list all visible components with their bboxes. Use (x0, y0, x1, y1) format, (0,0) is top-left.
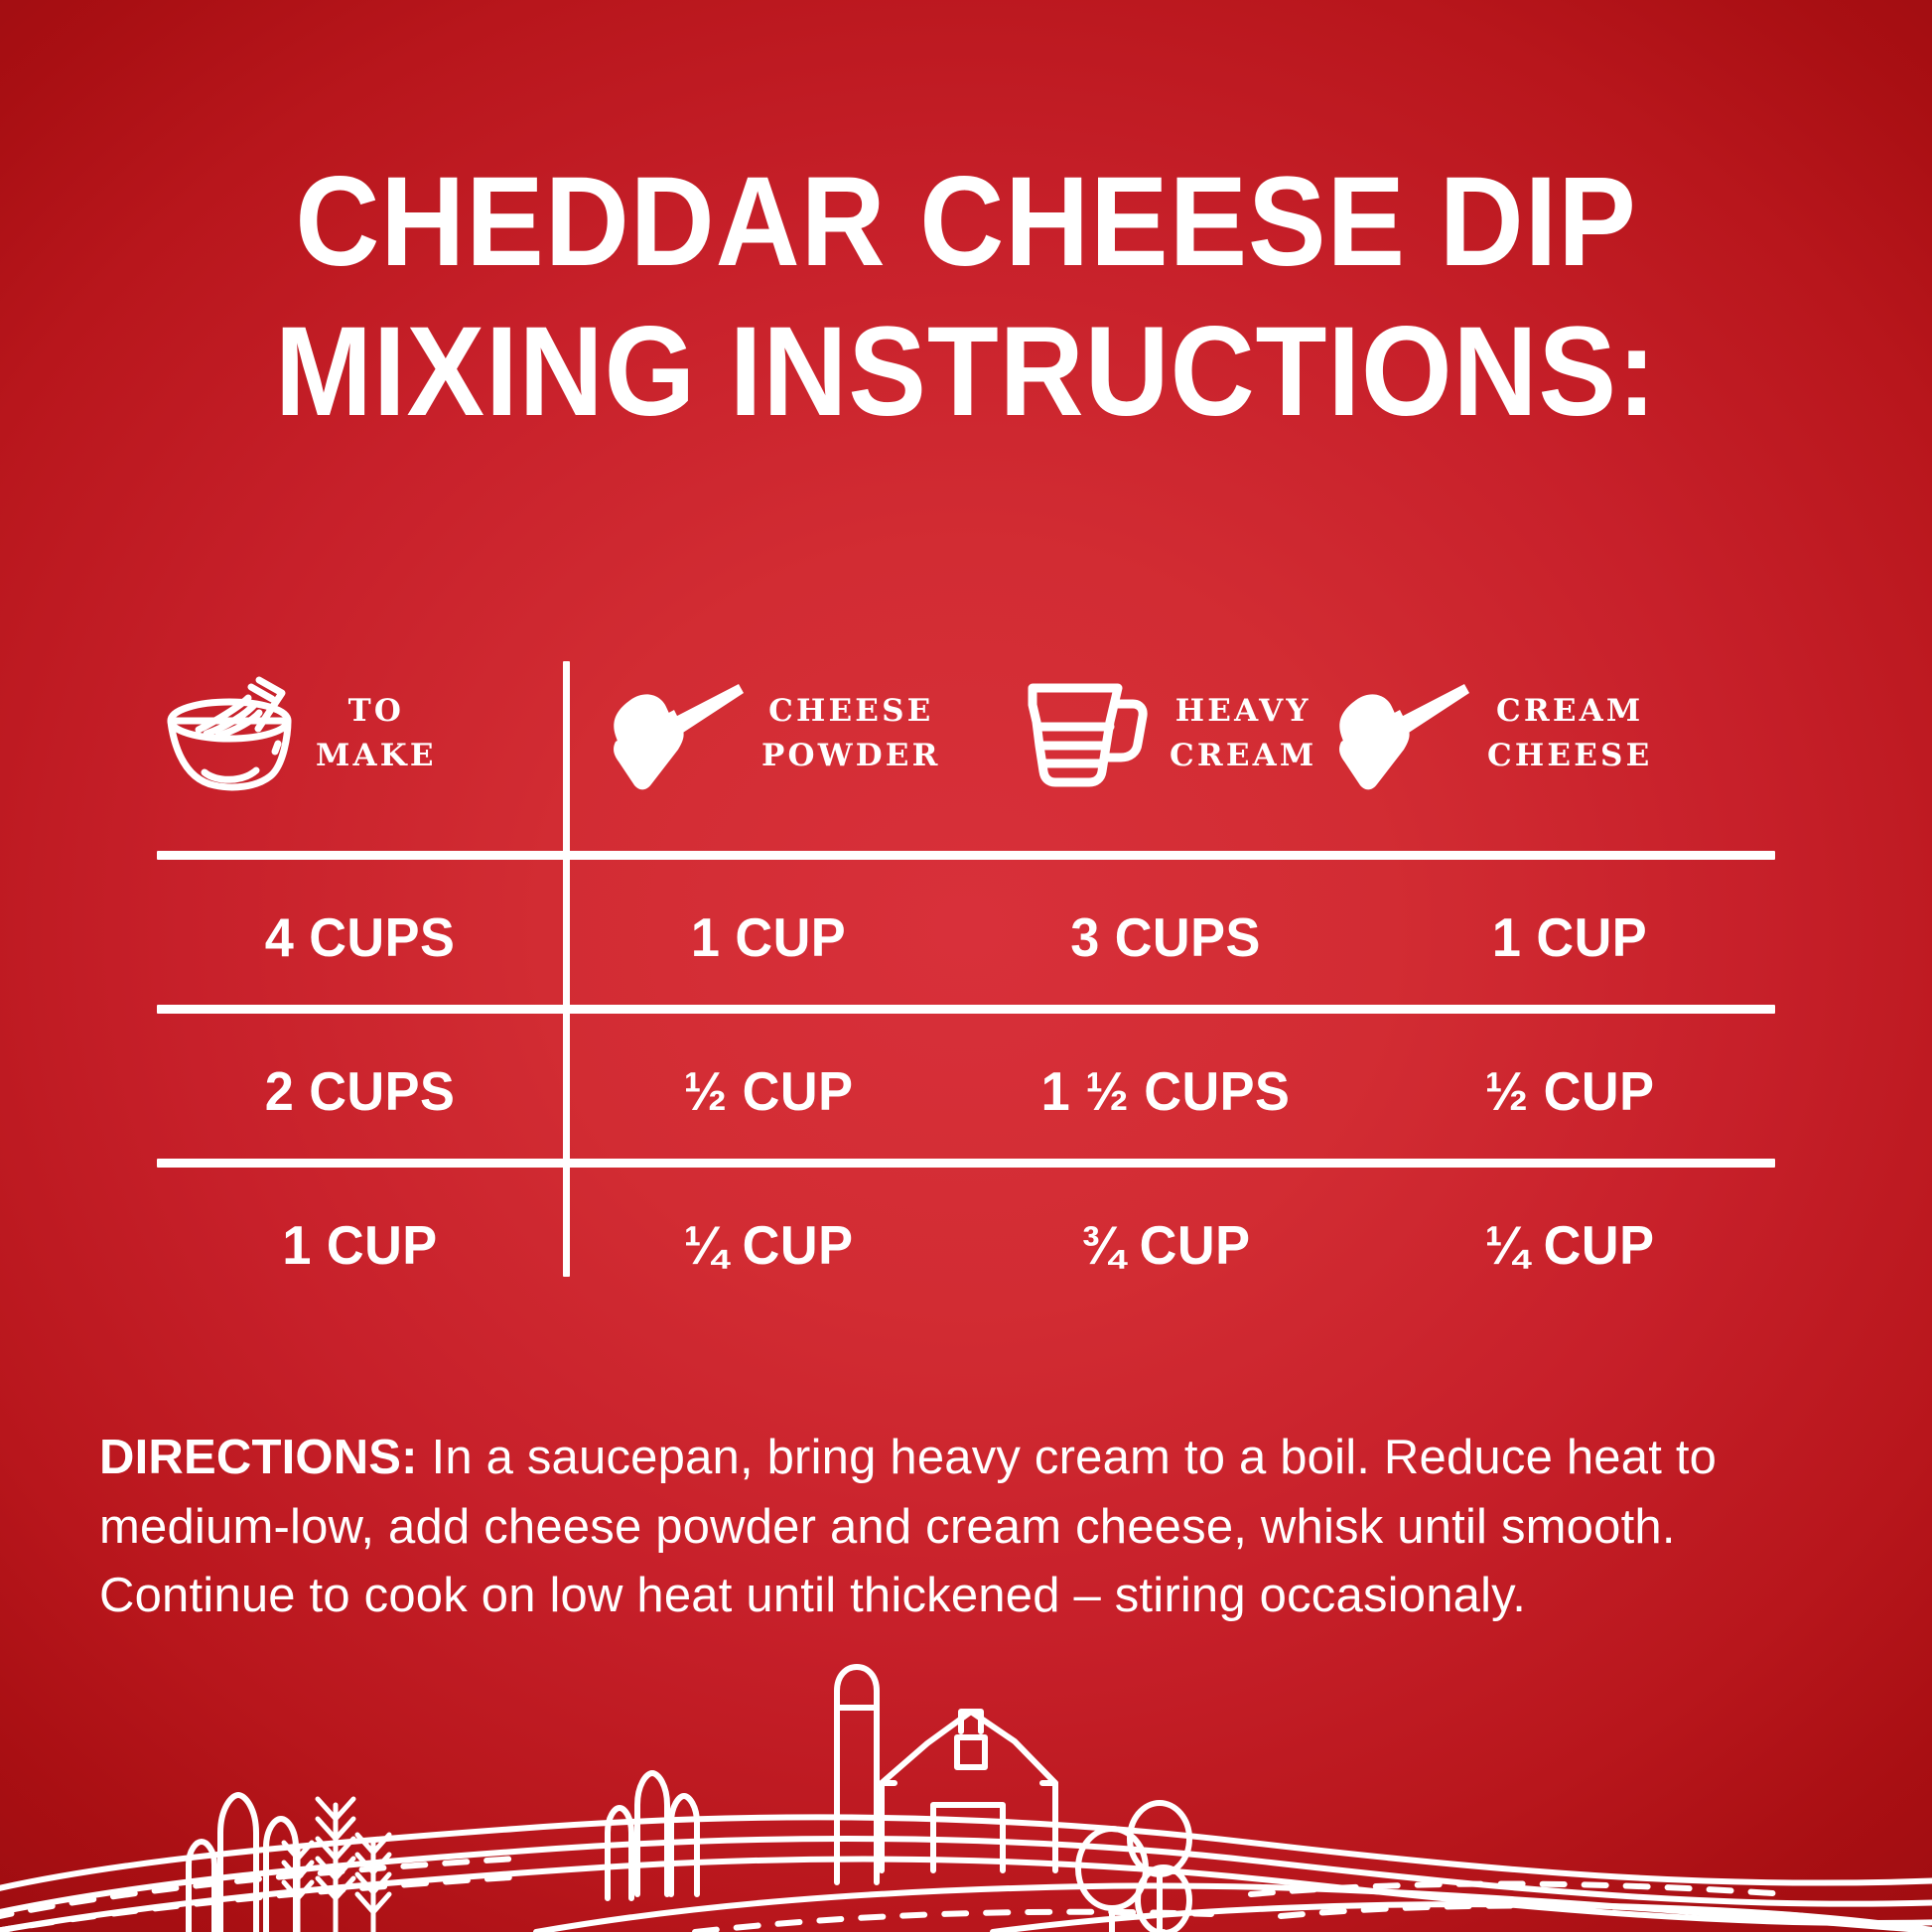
measuring-scoop-icon (603, 674, 750, 793)
cell-cheese-powder: ½ CUP (580, 1014, 957, 1168)
cell-heavy-cream: 1 ½ CUPS (977, 1014, 1354, 1168)
title-line-2: MIXING INSTRUCTIONS: (77, 297, 1855, 447)
table-header-cheese-powder-label: CHEESE POWDER (750, 689, 941, 778)
cell-cheese-powder: 1 CUP (580, 860, 957, 1014)
directions-label: DIRECTIONS: (99, 1431, 418, 1484)
table-header-heavy-cream-label: HEAVY CREAM (1158, 689, 1316, 778)
cell-cream-cheese: 1 CUP (1374, 860, 1764, 1014)
table-header-row: TO MAKE CHEESE POWDER (157, 643, 1775, 824)
table-row: 4 CUPS 1 CUP 3 CUPS 1 CUP (157, 860, 1775, 1014)
silo (837, 1667, 877, 1882)
title-line-1: CHEDDAR CHEESE DIP (77, 147, 1855, 297)
poplar-trees-left (189, 1795, 296, 1932)
cell-cream-cheese: ¼ CUP (1374, 1168, 1764, 1321)
cell-heavy-cream: ¾ CUP (977, 1168, 1354, 1321)
table-header-cream-cheese: CREAM CHEESE (1328, 643, 1775, 824)
cell-cheese-powder: ¼ CUP (580, 1168, 957, 1321)
table-header-cheese-powder: CHEESE POWDER (603, 643, 1000, 824)
table-row: 1 CUP ¼ CUP ¾ CUP ¼ CUP (157, 1168, 1775, 1321)
measuring-scoop-icon (1328, 674, 1475, 793)
page-title: CHEDDAR CHEESE DIP MIXING INSTRUCTIONS: (0, 147, 1932, 447)
table-row: 2 CUPS ½ CUP 1 ½ CUPS ½ CUP (157, 1014, 1775, 1168)
cell-to-make: 4 CUPS (167, 860, 553, 1014)
poplar-trees-center (608, 1773, 697, 1898)
table-header-to-make-label: TO MAKE (304, 689, 437, 778)
recipe-poster: CHEDDAR CHEESE DIP MIXING INSTRUCTIONS: (0, 0, 1932, 1932)
table-header-to-make: TO MAKE (157, 643, 563, 824)
table-header-cream-cheese-label: CREAM CHEESE (1475, 689, 1652, 778)
table-rule-top (157, 851, 1775, 860)
mixing-bowl-whisk-icon (157, 674, 304, 793)
cell-to-make: 2 CUPS (167, 1014, 553, 1168)
mixing-instructions-table: TO MAKE CHEESE POWDER (157, 643, 1775, 824)
cell-to-make: 1 CUP (167, 1168, 553, 1321)
cell-cream-cheese: ½ CUP (1374, 1014, 1764, 1168)
directions-paragraph: DIRECTIONS: In a saucepan, bring heavy c… (99, 1424, 1847, 1631)
barn (882, 1712, 1055, 1870)
measuring-cup-icon (1011, 674, 1158, 793)
farm-landscape-line-art (0, 1634, 1932, 1932)
cell-heavy-cream: 3 CUPS (977, 860, 1354, 1014)
